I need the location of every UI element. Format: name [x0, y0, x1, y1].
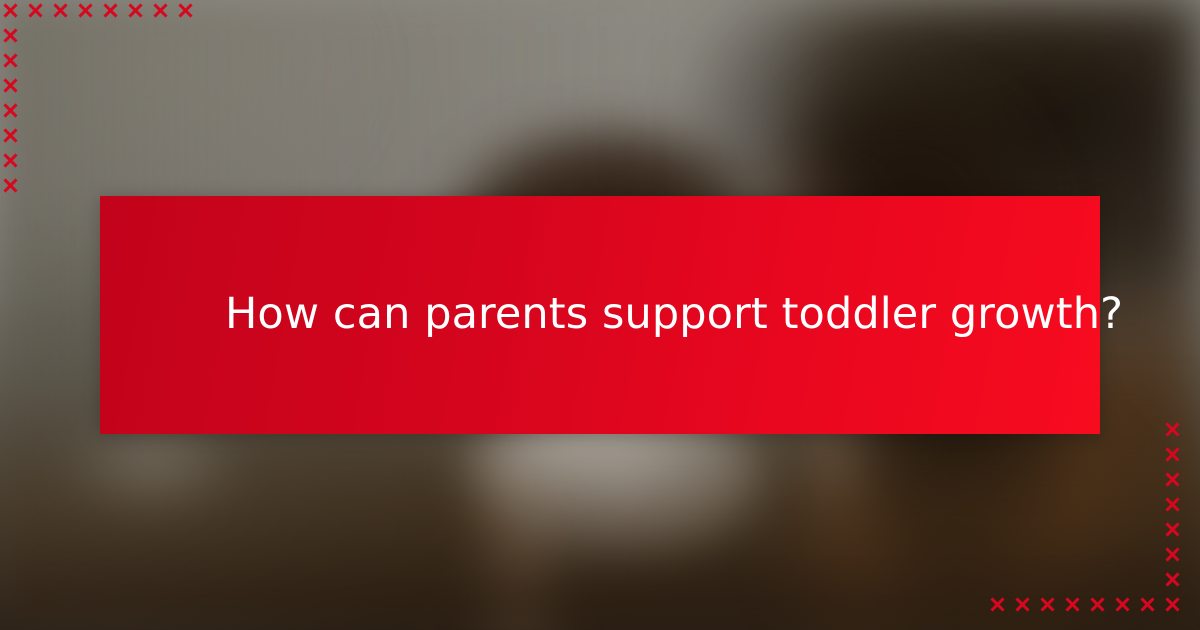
x-mark-icon	[2, 102, 19, 119]
x-mark-icon	[1164, 421, 1181, 438]
x-mark-icon	[102, 2, 119, 19]
x-mark-icon	[989, 596, 1006, 613]
x-mark-icon	[2, 52, 19, 69]
headline-banner: How can parents support toddler growth?	[100, 196, 1100, 434]
x-mark-icon	[1164, 546, 1181, 563]
x-mark-icon	[1164, 571, 1181, 588]
x-mark-icon	[1164, 471, 1181, 488]
x-mark-icon	[2, 77, 19, 94]
x-mark-icon	[2, 177, 19, 194]
x-mark-icon	[52, 2, 69, 19]
x-mark-icon	[1139, 596, 1156, 613]
x-mark-icon	[77, 2, 94, 19]
x-mark-icon	[2, 152, 19, 169]
og-image-canvas: How can parents support toddler growth?	[0, 0, 1200, 630]
x-mark-icon	[1114, 596, 1131, 613]
x-mark-icon	[2, 2, 19, 19]
x-mark-icon	[1164, 596, 1181, 613]
page-title: How can parents support toddler growth?	[225, 289, 1123, 341]
x-mark-icon	[1039, 596, 1056, 613]
x-mark-icon	[27, 2, 44, 19]
x-mark-icon	[1014, 596, 1031, 613]
x-mark-icon	[127, 2, 144, 19]
x-mark-icon	[1164, 496, 1181, 513]
x-mark-icon	[152, 2, 169, 19]
x-mark-icon	[1089, 596, 1106, 613]
x-mark-icon	[1164, 521, 1181, 538]
x-mark-icon	[1064, 596, 1081, 613]
x-mark-icon	[2, 27, 19, 44]
x-mark-icon	[1164, 446, 1181, 463]
x-mark-icon	[177, 2, 194, 19]
x-mark-icon	[2, 127, 19, 144]
